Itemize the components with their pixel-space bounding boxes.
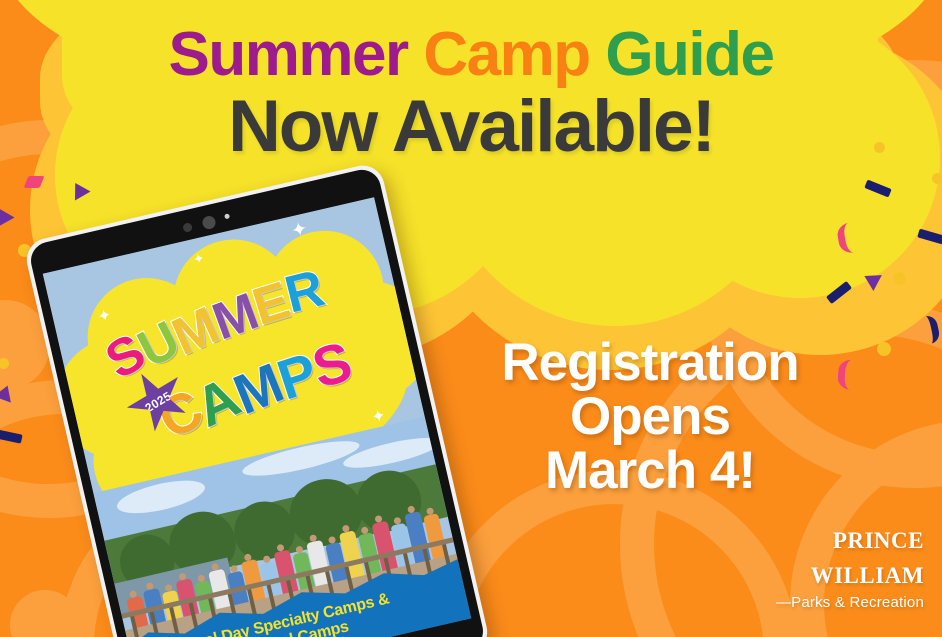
page-title: Summer Camp Guide Now Available!: [0, 26, 942, 160]
logo-subtitle: —Parks & Recreation: [776, 594, 924, 611]
confetti-dot-icon: [877, 342, 891, 356]
logo-line-2: William: [776, 556, 924, 590]
headline-word-summer: Summer: [168, 20, 407, 89]
confetti-squiggle-icon: [837, 359, 872, 391]
registration-callout: Registration Opens March 4!: [470, 336, 830, 498]
headline-line-2: Now Available!: [0, 93, 942, 160]
headline-line-1: Summer Camp Guide: [0, 26, 942, 83]
logo-line-1: Prince: [776, 521, 924, 555]
registration-line-3: March 4!: [470, 444, 830, 498]
summer-camp-guide-poster: Summer Camp Guide Now Available!: [0, 0, 942, 637]
registration-line-1: Registration: [470, 336, 830, 390]
prince-william-parks-rec-logo: Prince William —Parks & Recreation: [776, 521, 924, 611]
confetti-dot-icon: [893, 272, 906, 285]
confetti-dot-icon: [932, 173, 942, 184]
headline-word-guide: Guide: [605, 20, 773, 89]
registration-line-2: Opens: [470, 390, 830, 444]
headline-word-camp: Camp: [423, 20, 589, 89]
